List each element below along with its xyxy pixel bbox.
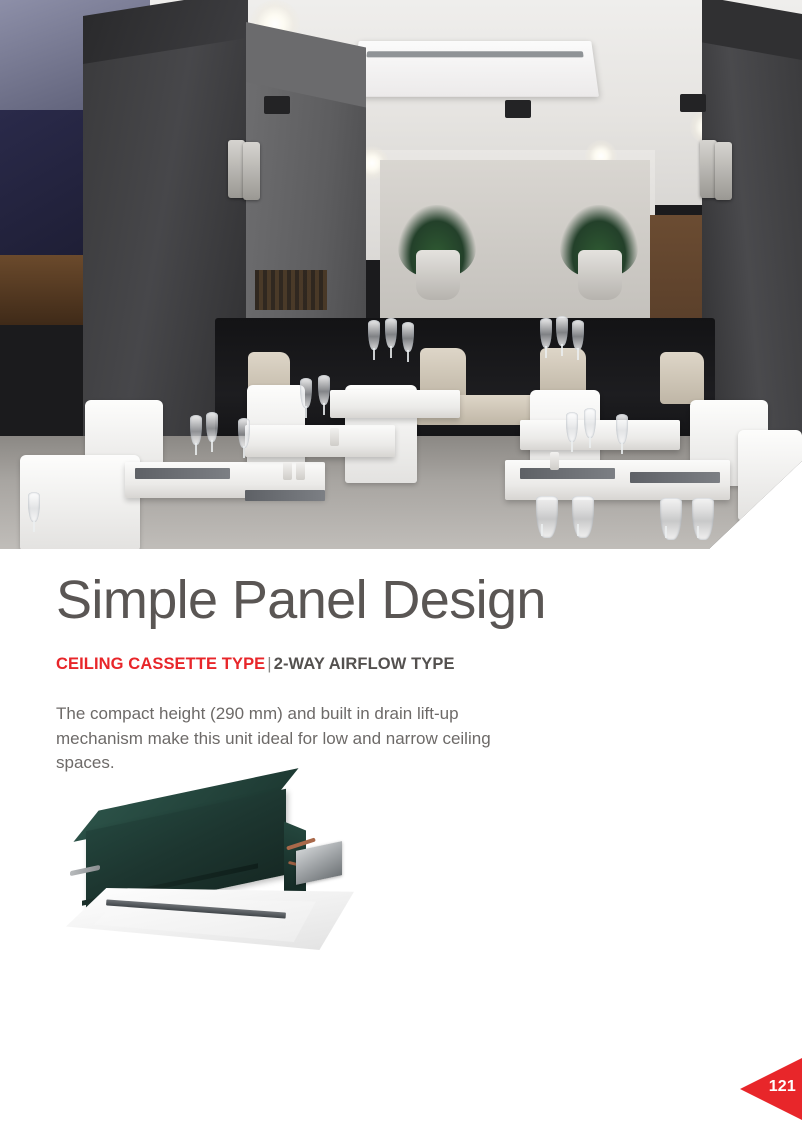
wall-speaker	[715, 142, 732, 200]
placemat	[630, 472, 720, 483]
hero-photo	[0, 0, 802, 549]
bottle-shelf	[255, 270, 327, 310]
track-light	[264, 96, 290, 114]
subtitle-separator: |	[265, 655, 273, 673]
page-number: 121	[769, 1078, 796, 1096]
subtitle-category: CEILING CASSETTE TYPE	[56, 655, 265, 673]
body-text: The compact height (290 mm) and built in…	[56, 702, 526, 776]
product-subtitle: CEILING CASSETTE TYPE|2-WAY AIRFLOW TYPE	[56, 655, 455, 674]
brochure-page: Simple Panel Design CEILING CASSETTE TYP…	[0, 0, 802, 1134]
page-title: Simple Panel Design	[56, 572, 546, 629]
cushion	[660, 352, 704, 404]
hero-scene	[0, 0, 802, 549]
placemat	[135, 468, 230, 479]
placemat	[245, 490, 325, 501]
planter-pot	[578, 250, 622, 300]
track-light	[505, 100, 531, 118]
wall-speaker	[243, 142, 260, 200]
dining-table	[245, 425, 395, 457]
dining-chair	[738, 430, 802, 520]
subtitle-variant: 2-WAY AIRFLOW TYPE	[274, 655, 455, 673]
track-light	[680, 94, 706, 112]
product-photo	[58, 806, 358, 956]
installed-cassette-unit	[351, 41, 599, 97]
condiment-shaker	[330, 428, 339, 446]
condiment-shaker	[283, 462, 292, 480]
cassette-air-slot	[366, 51, 583, 57]
planter-pot	[416, 250, 460, 300]
condiment-shaker	[296, 462, 305, 480]
dining-table	[520, 420, 680, 450]
dining-table	[330, 390, 460, 418]
condiment-shaker	[550, 452, 559, 470]
dark-wall-right	[702, 14, 802, 444]
page-number-badge: 121	[740, 1058, 802, 1120]
placemat	[520, 468, 615, 479]
